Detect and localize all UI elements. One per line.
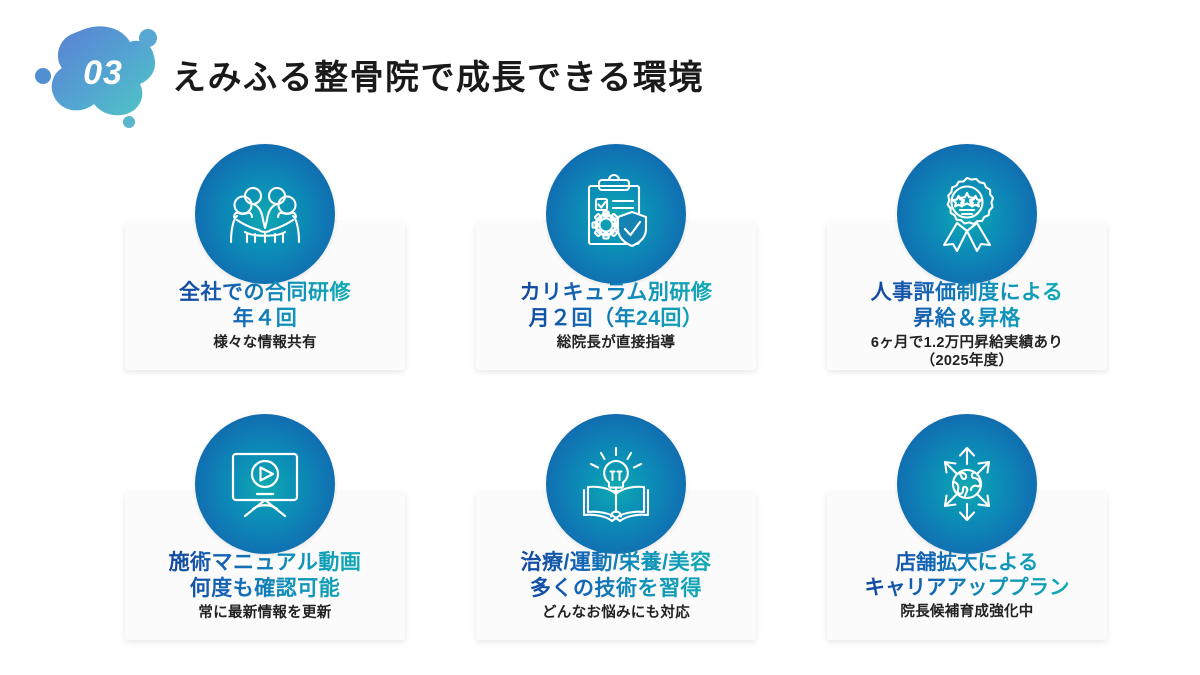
card-subtitle: 総院長が直接指導 (557, 334, 675, 352)
card-subtitle: どんなお悩みにも対応 (542, 604, 690, 622)
feature-card[interactable]: 人事評価制度による 昇給＆昇格 6ヶ月で1.2万円昇給実績あり （2025年度） (827, 222, 1107, 370)
card-title: 店舗拡大による キャリアアッププラン (865, 550, 1070, 600)
feature-card[interactable]: 全社での合同研修 年４回 様々な情報共有 (125, 222, 405, 370)
card-title: 施術マニュアル動画 何度も確認可能 (169, 550, 362, 601)
card-subtitle: 常に最新情報を更新 (198, 604, 331, 622)
feature-card[interactable]: 治療/運動/栄養/美容 多くの技術を習得 どんなお悩みにも対応 (476, 492, 756, 640)
clipboard-gear-shield-icon (546, 144, 686, 284)
globe-arrows-icon (897, 414, 1037, 554)
card-title: カリキュラム別研修 月２回（年24回） (520, 280, 713, 331)
card-title: 人事評価制度による 昇給＆昇格 (871, 280, 1064, 331)
group-people-icon (195, 144, 335, 284)
card-title: 治療/運動/栄養/美容 多くの技術を習得 (520, 550, 711, 601)
book-lightbulb-icon (546, 414, 686, 554)
card-subtitle: 様々な情報共有 (213, 334, 317, 352)
section-number-blob: 03 (30, 18, 170, 128)
page-title: えみふる整骨院で成長できる環境 (172, 50, 704, 99)
monitor-play-icon (195, 414, 335, 554)
card-subtitle: 6ヶ月で1.2万円昇給実績あり （2025年度） (871, 334, 1063, 370)
feature-card[interactable]: 施術マニュアル動画 何度も確認可能 常に最新情報を更新 (125, 492, 405, 640)
card-text: 全社での合同研修 年４回 様々な情報共有 (125, 280, 405, 370)
slide-root: 03 えみふる整骨院で成長できる環境 (0, 0, 1200, 675)
feature-card[interactable]: 店舗拡大による キャリアアッププラン 院長候補育成強化中 (827, 492, 1107, 640)
slide-header: 03 えみふる整骨院で成長できる環境 (0, 0, 1200, 120)
award-ribbon-icon (897, 144, 1037, 284)
card-text: カリキュラム別研修 月２回（年24回） 総院長が直接指導 (476, 280, 756, 370)
feature-card[interactable]: カリキュラム別研修 月２回（年24回） 総院長が直接指導 (476, 222, 756, 370)
card-title: 全社での合同研修 年４回 (179, 280, 351, 331)
card-text: 治療/運動/栄養/美容 多くの技術を習得 どんなお悩みにも対応 (476, 550, 756, 640)
blob-shape-icon (30, 18, 170, 128)
feature-card-grid: 全社での合同研修 年４回 様々な情報共有 (0, 120, 1200, 675)
card-subtitle: 院長候補育成強化中 (900, 603, 1033, 621)
card-text: 施術マニュアル動画 何度も確認可能 常に最新情報を更新 (125, 550, 405, 640)
card-text: 店舗拡大による キャリアアッププラン 院長候補育成強化中 (827, 550, 1107, 640)
card-text: 人事評価制度による 昇給＆昇格 6ヶ月で1.2万円昇給実績あり （2025年度） (827, 280, 1107, 370)
